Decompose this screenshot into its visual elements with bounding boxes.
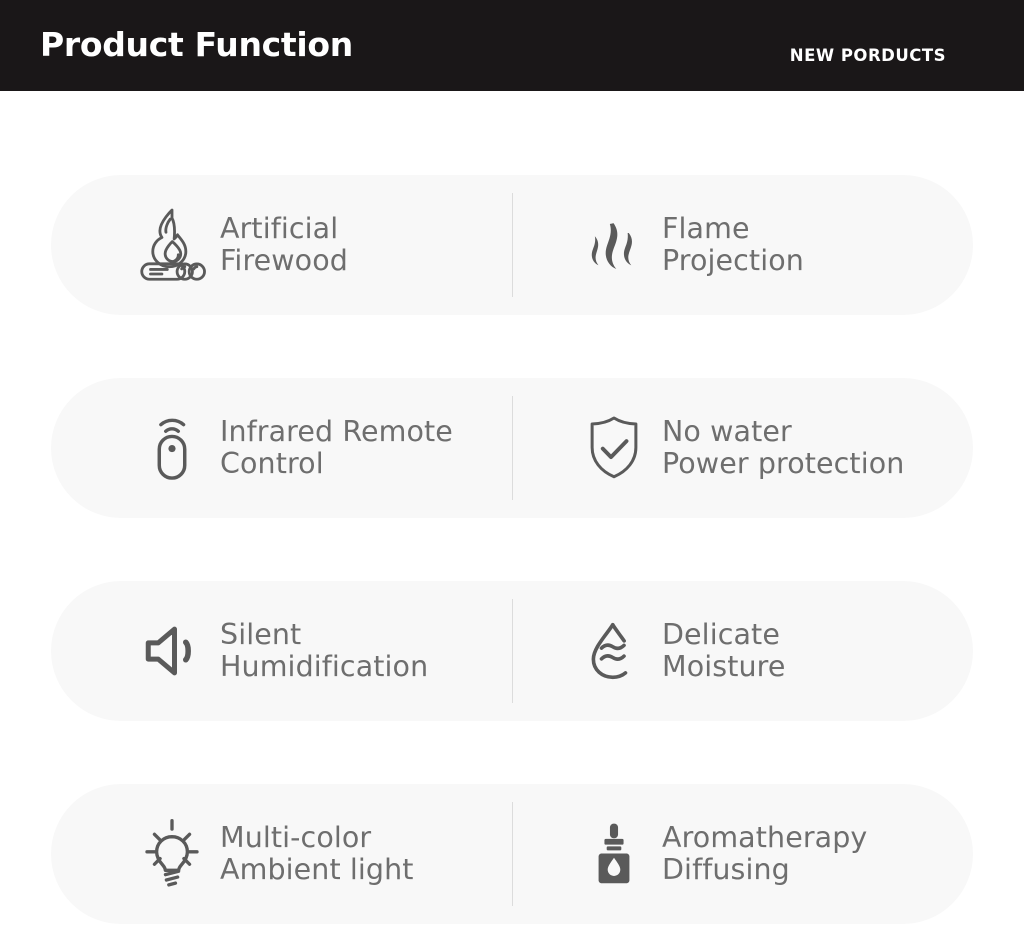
feature-label: Delicate Moisture [660, 619, 785, 683]
feature-label: No water Power protection [660, 416, 904, 480]
feature-item-artificial-firewood[interactable]: Artificial Firewood [51, 175, 512, 315]
new-products-badge: NEW PORDUCTS [790, 46, 946, 66]
feature-row: Multi-color Ambient light Aromatherapy D… [51, 784, 973, 924]
feature-label: Infrared Remote Control [218, 416, 453, 480]
dropper-bottle-icon [568, 808, 660, 900]
light-bulb-icon [126, 808, 218, 900]
feature-grid: Artificial Firewood Flame Projection [0, 91, 1024, 924]
feature-item-delicate-moisture[interactable]: Delicate Moisture [512, 581, 973, 721]
feature-item-aromatherapy-diffusing[interactable]: Aromatherapy Diffusing [512, 784, 973, 924]
page-title: Product Function [40, 24, 353, 66]
flame-projection-icon [568, 199, 660, 291]
feature-label: Aromatherapy Diffusing [660, 822, 867, 886]
feature-row: Infrared Remote Control No water Power p… [51, 378, 973, 518]
feature-label: Multi-color Ambient light [218, 822, 414, 886]
feature-item-flame-projection[interactable]: Flame Projection [512, 175, 973, 315]
feature-item-no-water-power-protection[interactable]: No water Power protection [512, 378, 973, 518]
feature-item-multi-color-ambient-light[interactable]: Multi-color Ambient light [51, 784, 512, 924]
feature-item-silent-humidification[interactable]: Silent Humidification [51, 581, 512, 721]
feature-row: Silent Humidification Delicate Moisture [51, 581, 973, 721]
feature-label: Silent Humidification [218, 619, 428, 683]
feature-item-infrared-remote-control[interactable]: Infrared Remote Control [51, 378, 512, 518]
firewood-icon [126, 199, 218, 291]
feature-row: Artificial Firewood Flame Projection [51, 175, 973, 315]
feature-label: Flame Projection [660, 213, 804, 277]
feature-label: Artificial Firewood [218, 213, 348, 277]
water-droplet-icon [568, 605, 660, 697]
remote-control-icon [126, 402, 218, 494]
page-header: Product Function NEW PORDUCTS [0, 0, 1024, 91]
speaker-icon [126, 605, 218, 697]
shield-check-icon [568, 402, 660, 494]
